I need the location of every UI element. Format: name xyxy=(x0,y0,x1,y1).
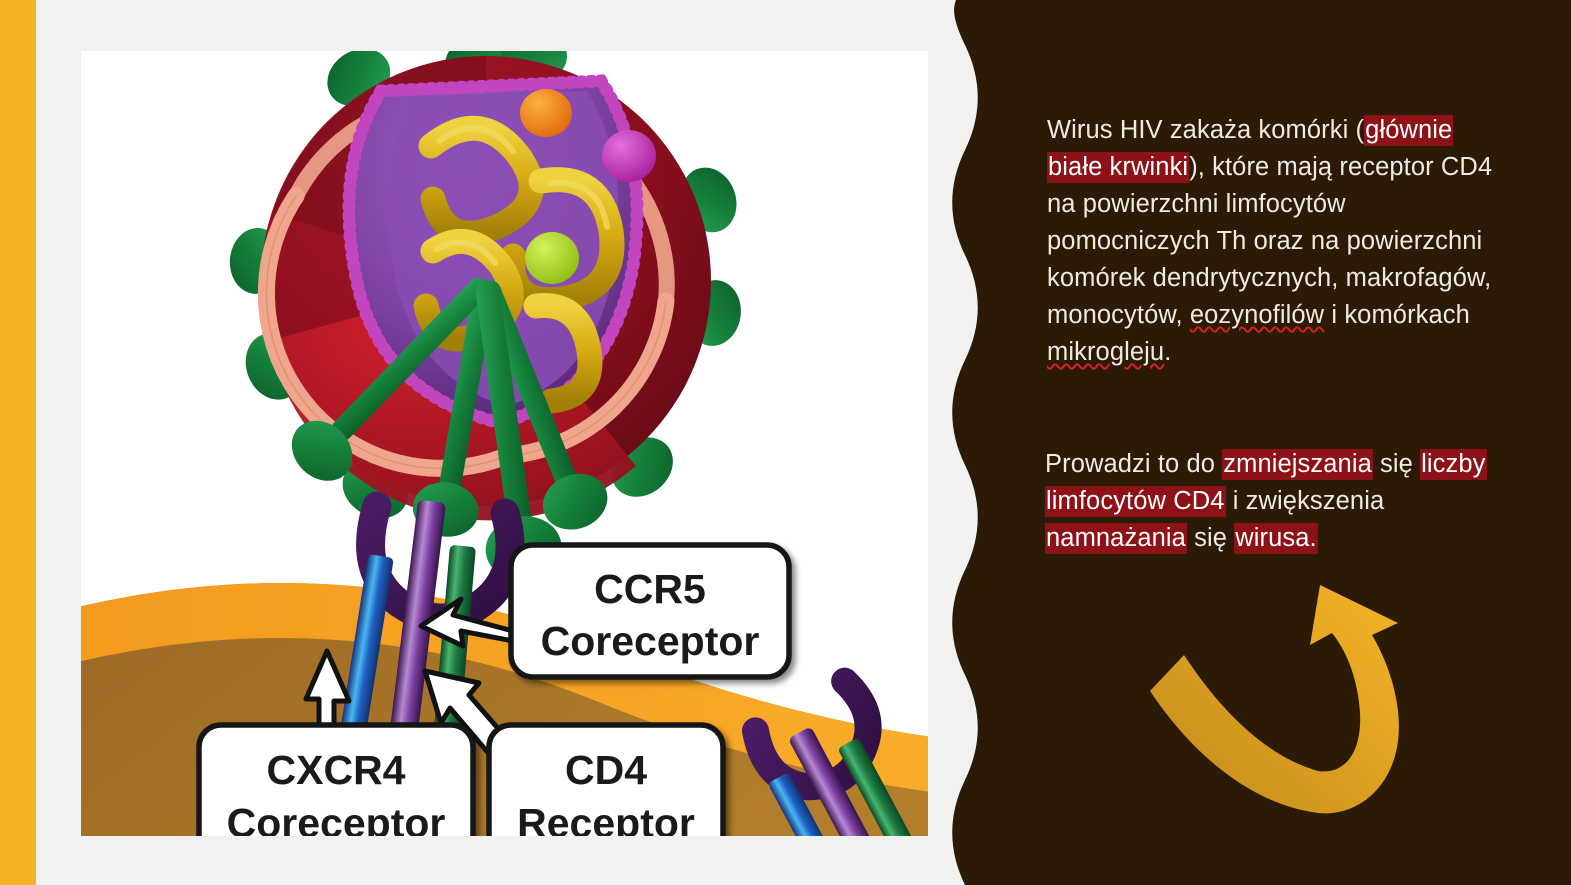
enzyme-magenta xyxy=(602,130,656,182)
highlight-zmniejszania: zmniejszania xyxy=(1222,449,1373,480)
callout-cd4-line2: Receptor xyxy=(517,800,695,836)
arrow-shape xyxy=(1150,585,1399,813)
slide-canvas: CCR5 Coreceptor CXCR4 Coreceptor CD4 Rec… xyxy=(0,0,1571,885)
spellcheck-eozynofilow: eozynofilów xyxy=(1190,301,1324,329)
enzyme-green xyxy=(525,232,579,284)
left-accent-bar xyxy=(0,0,36,885)
paragraph-1: Wirus HIV zakaża komórki (głównie białe … xyxy=(1047,112,1502,371)
enzyme-orange xyxy=(520,89,572,137)
illustration-panel: CCR5 Coreceptor CXCR4 Coreceptor CD4 Rec… xyxy=(81,51,928,836)
curved-up-arrow xyxy=(1150,585,1430,825)
callout-ccr5-line2: Coreceptor xyxy=(541,618,760,664)
highlight-namnazania: namnażania xyxy=(1045,523,1187,554)
paragraph-2: Prowadzi to do zmniejszania się liczby l… xyxy=(1045,446,1515,557)
spellcheck-mikrogleju: mikrogleju xyxy=(1047,338,1164,366)
callout-cxcr4-line1: CXCR4 xyxy=(267,747,406,793)
callout-cd4-line1: CD4 xyxy=(565,747,647,793)
text-column: Wirus HIV zakaża komórki (głównie białe … xyxy=(1047,112,1502,371)
highlight-wirusa: wirusa. xyxy=(1234,523,1317,554)
callout-cxcr4-line2: Coreceptor xyxy=(227,800,446,836)
callout-ccr5-line1: CCR5 xyxy=(594,566,706,612)
